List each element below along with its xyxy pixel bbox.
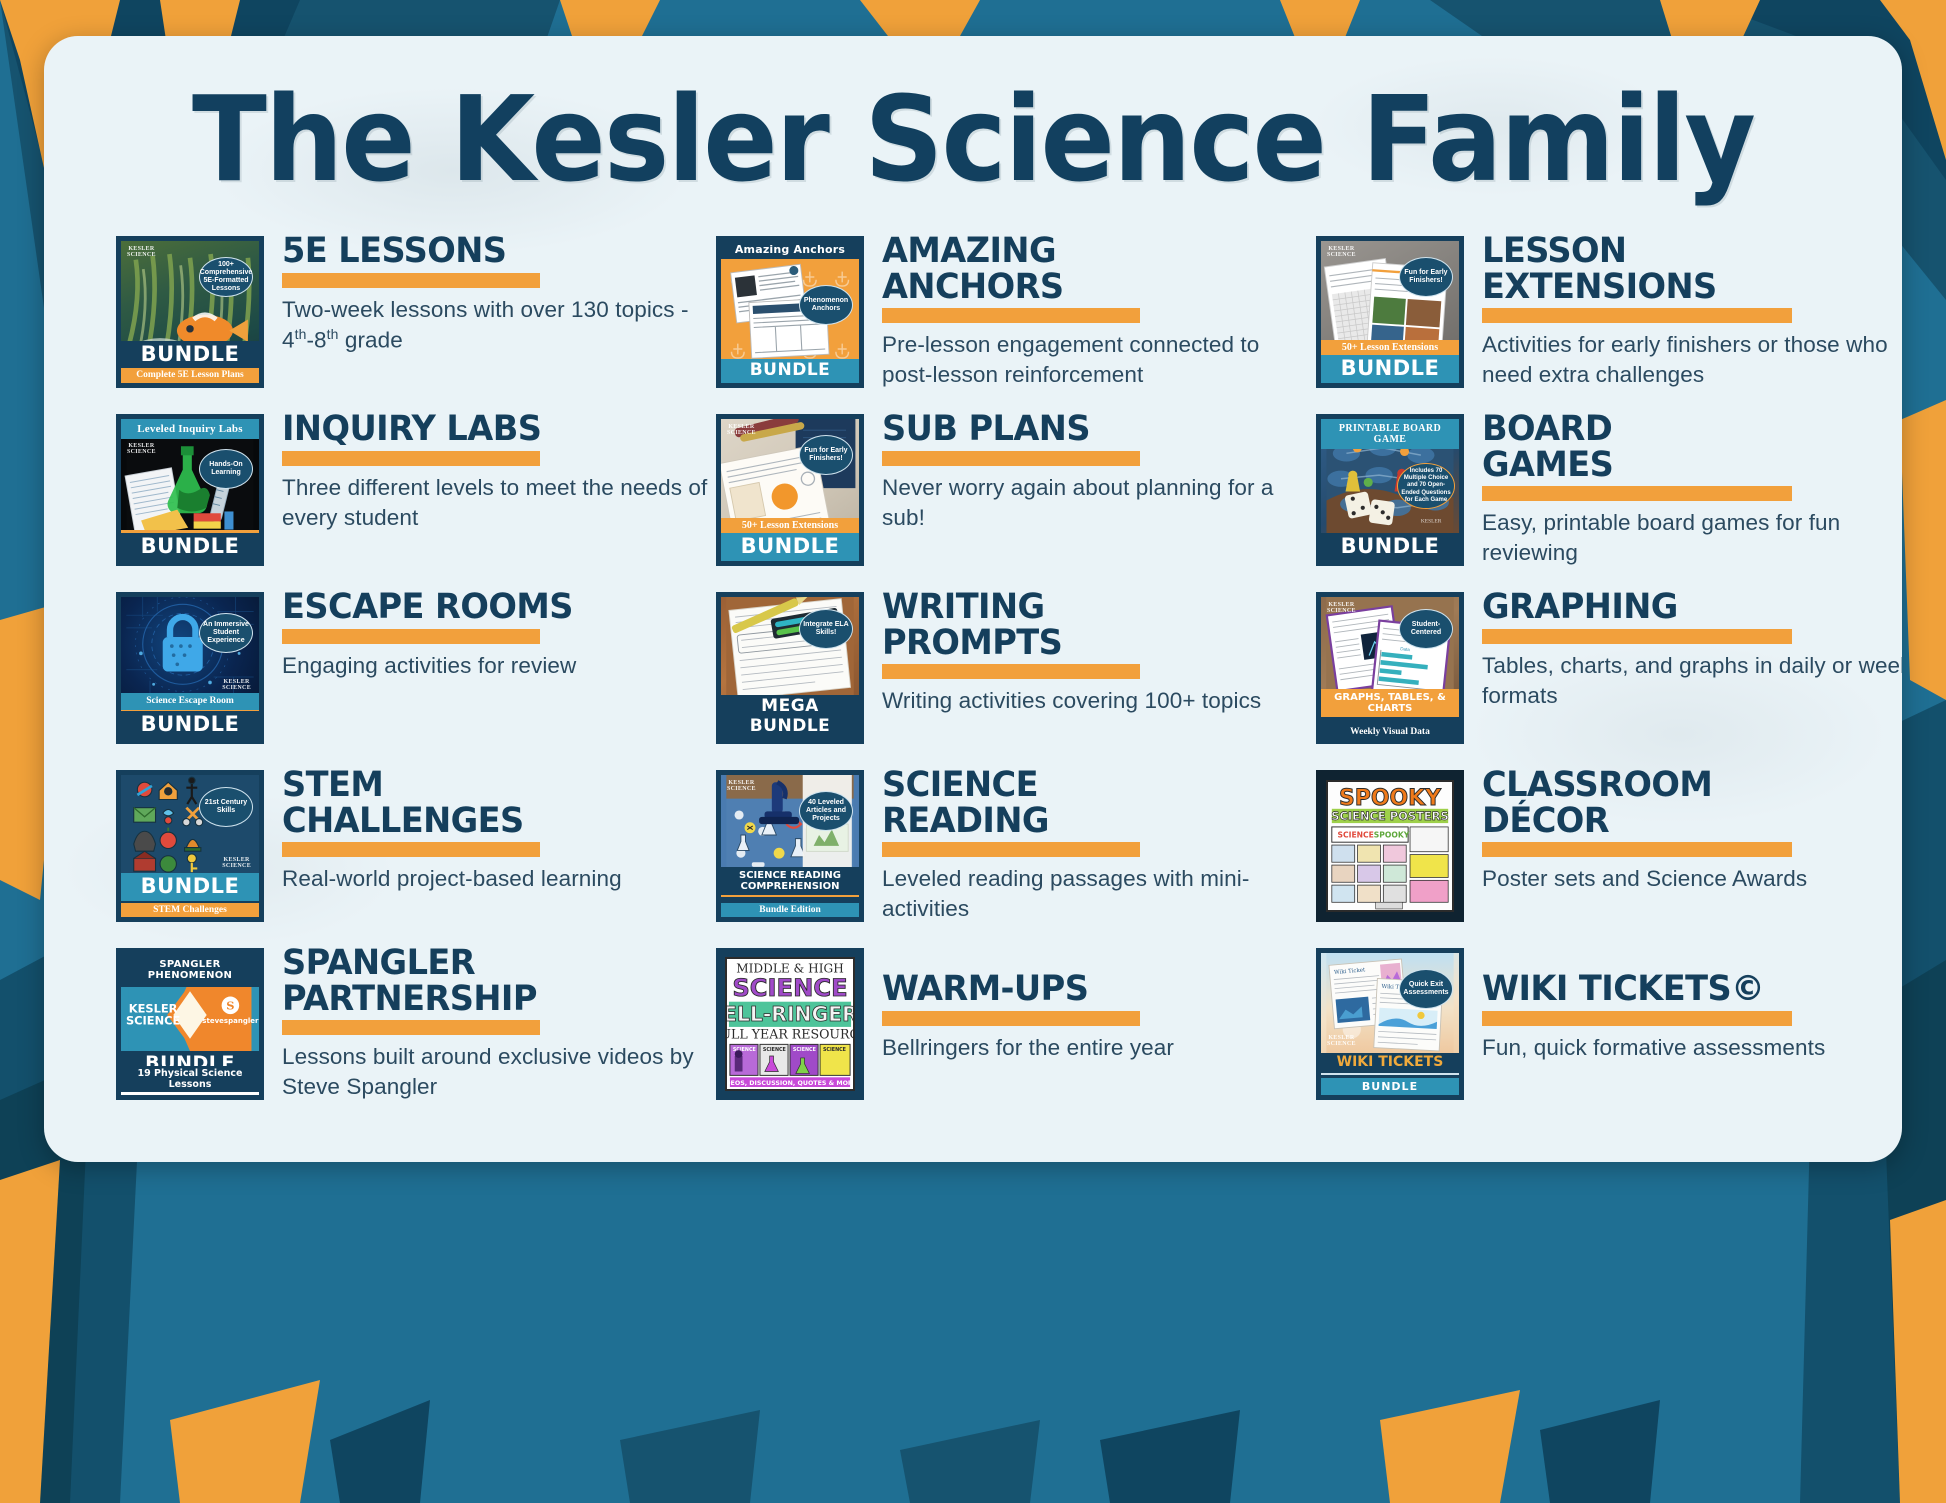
sup-th-1: th: [295, 326, 307, 342]
product-text: WIKI TICKETS© Fun, quick formative asses…: [1464, 944, 1902, 1063]
svg-text:VIDEOS, DISCUSSION, QUOTES & M: VIDEOS, DISCUSSION, QUOTES & MORE!: [727, 1080, 853, 1087]
product-text: SUB PLANS Never worry again about planni…: [864, 410, 1316, 533]
thumbnail-wiki-tickets: Wiki Ticket Wiki Ticket: [1316, 948, 1464, 1100]
thumb-top-label: Leveled Inquiry Labs: [121, 419, 259, 439]
orange-rule: [1482, 308, 1792, 323]
product-text: LESSON EXTENSIONS Activities for early f…: [1464, 232, 1902, 390]
product-description: Bellringers for the entire year: [882, 1033, 1316, 1063]
bundle-label: BUNDLE: [121, 530, 259, 561]
product-name: SUB PLANS: [882, 412, 1299, 448]
bundle-label: BUNDLE: [121, 711, 259, 739]
thumbnail-spangler-partnership: KESLER SCIENCE S stevespangler SPANGLER …: [116, 948, 264, 1100]
product-item-inquiry-labs[interactable]: Leveled Inquiry Labs KESLERSCIENCE Hands…: [116, 410, 716, 588]
product-name: GRAPHING: [1482, 590, 1902, 626]
product-text: CLASSROOM DÉCOR Poster sets and Science …: [1464, 766, 1902, 894]
kesler-logo-icon: KESLERSCIENCE: [727, 424, 756, 436]
svg-text:BELL-RINGERS: BELL-RINGERS: [727, 1002, 853, 1026]
bundle-label: BUNDLE: [721, 359, 859, 383]
thumbnail-board-games: KESLER PRINTABLE BOARD GAME Includes 70 …: [1316, 414, 1464, 566]
orange-rule: [882, 451, 1140, 466]
product-item-wiki-tickets[interactable]: Wiki Ticket Wiki Ticket: [1316, 944, 1902, 1122]
badge-label: 100+ Comprehensive 5E-Formatted Lessons: [199, 257, 253, 297]
thumb-sub-label: 50+ Lesson Extensions: [721, 518, 859, 533]
thumb-sub-label: BUNDLE: [1321, 1078, 1459, 1095]
product-description: Fun, quick formative assessments: [1482, 1033, 1902, 1063]
product-item-board-games[interactable]: KESLER PRINTABLE BOARD GAME Includes 70 …: [1316, 410, 1902, 588]
svg-text:SCIENCE POSTERS: SCIENCE POSTERS: [1331, 809, 1448, 823]
bundle-label: BUNDLE: [121, 873, 259, 901]
product-item-stem-challenges[interactable]: 21st Century Skills KESLERSCIENCE BUNDLE…: [116, 766, 716, 944]
art-spangler-kesler-logos: KESLER SCIENCE S stevespangler: [121, 979, 259, 1051]
product-description: Activities for early finishers or those …: [1482, 330, 1902, 390]
orange-rule: [1482, 486, 1792, 501]
svg-text:Data: Data: [1400, 646, 1411, 652]
product-description: Tables, charts, and graphs in daily or w…: [1482, 651, 1902, 711]
thumbnail-inquiry-labs: Leveled Inquiry Labs KESLERSCIENCE Hands…: [116, 414, 264, 566]
kesler-logo-icon: KESLERSCIENCE: [222, 857, 251, 869]
product-text: BOARD GAMES Easy, printable board games …: [1464, 410, 1902, 568]
badge-label: 21st Century Skills: [199, 787, 253, 827]
badge-label: Includes 70 Multiple Choice and 70 Open-…: [1397, 463, 1455, 509]
product-name: STEM CHALLENGES: [282, 768, 699, 839]
thumbnail-science-reading: KESLERSCIENCE 40 Leveled Articles and Pr…: [716, 770, 864, 922]
badge-label: Integrate ELA Skills!: [799, 609, 853, 649]
product-description: Easy, printable board games for fun revi…: [1482, 508, 1902, 568]
art-spooky-science-posters: SPOOKY SCIENCE POSTERS SCIENCE SPOOKY: [1326, 780, 1454, 912]
product-description: Poster sets and Science Awards: [1482, 864, 1902, 894]
product-item-science-reading[interactable]: KESLERSCIENCE 40 Leveled Articles and Pr…: [716, 766, 1316, 944]
thumbnail-lesson-extensions: KESLERSCIENCE Fun for Early Finishers! 5…: [1316, 236, 1464, 388]
product-name: SCIENCE READING: [882, 768, 1299, 839]
product-item-sub-plans[interactable]: KESLERSCIENCE Fun for Early Finishers! 5…: [716, 410, 1316, 588]
orange-rule: [882, 842, 1140, 857]
thumb-top-label: SPANGLER PHENOMENON: [121, 953, 259, 987]
badge-label: Fun for Early Finishers!: [799, 435, 853, 475]
product-description: Writing activities covering 100+ topics: [882, 686, 1316, 716]
product-description: Lessons built around exclusive videos by…: [282, 1042, 716, 1102]
bundle-label: BUNDLE: [721, 533, 859, 561]
badge-label: Student-Centered: [1399, 609, 1453, 649]
badge-label: Quick Exit Assessments: [1399, 969, 1453, 1009]
orange-rule: [882, 1011, 1140, 1026]
product-name: AMAZING ANCHORS: [882, 234, 1299, 305]
badge-label: 40 Leveled Articles and Projects: [799, 791, 853, 831]
product-description: Pre-lesson engagement connected to post-…: [882, 330, 1316, 390]
bundle-label: BUNDLE: [1321, 533, 1459, 561]
product-name: 5E LESSONS: [282, 234, 699, 270]
product-item-escape-rooms[interactable]: KESLERSCIENCE An Immersive Student Exper…: [116, 588, 716, 766]
kesler-logo-icon: KESLERSCIENCE: [222, 679, 251, 691]
orange-rule: [282, 451, 540, 466]
thumbnail-graphing: Data KESLERSCIENCE Student-Centered: [1316, 592, 1464, 744]
product-text: SPANGLER PARTNERSHIP Lessons built aroun…: [264, 944, 716, 1102]
partnership-svg: KESLER SCIENCE S stevespangler: [121, 979, 259, 1051]
kesler-logo-icon: KESLERSCIENCE: [1327, 246, 1356, 258]
svg-text:SPOOKY: SPOOKY: [1374, 830, 1410, 839]
svg-text:SPOOKY: SPOOKY: [1339, 786, 1442, 811]
product-description: Real-world project-based learning: [282, 864, 716, 894]
product-name: WARM-UPS: [882, 946, 1299, 1008]
kesler-logo-icon: KESLERSCIENCE: [727, 780, 756, 792]
svg-text:SCIENCE: SCIENCE: [1338, 830, 1374, 839]
product-description: Never worry again about planning for a s…: [882, 473, 1316, 533]
bellringers-svg: MIDDLE & HIGH SCIENCE BELL-RINGERS FULL …: [727, 959, 853, 1089]
bundle-label: SCIENCE READING COMPREHENSION: [721, 867, 859, 897]
product-name: SPANGLER PARTNERSHIP: [282, 946, 699, 1017]
svg-text:S: S: [226, 999, 234, 1013]
product-description: Three different levels to meet the needs…: [282, 473, 716, 533]
svg-text:KESLER: KESLER: [1421, 518, 1442, 524]
product-description: Two-week lessons with over 130 topics - …: [282, 295, 716, 355]
orange-rule: [882, 664, 1140, 679]
badge-label: Hands-On Learning: [199, 449, 253, 489]
product-text: WARM-UPS Bellringers for the entire year: [864, 944, 1316, 1063]
product-text: WRITING PROMPTS Writing activities cover…: [864, 588, 1316, 716]
thumbnail-amazing-anchors: Amazing Anchors Phenomenon Anchors BUNDL…: [716, 236, 864, 388]
product-text: 5E LESSONS Two-week lessons with over 13…: [264, 232, 716, 355]
product-name: INQUIRY LABS: [282, 412, 699, 448]
bundle-label: MEGA BUNDLE: [721, 695, 859, 739]
kesler-logo-icon: KESLERSCIENCE: [1327, 602, 1356, 614]
product-name: WRITING PROMPTS: [882, 590, 1299, 661]
badge-label: An Immersive Student Experience: [199, 613, 253, 653]
poster-card: The Kesler Science Family: [44, 36, 1902, 1162]
product-item-writing-prompts[interactable]: Integrate ELA Skills! Science Writing Pr…: [716, 588, 1316, 766]
badge-label: Phenomenon Anchors: [799, 285, 853, 325]
orange-rule: [282, 842, 540, 857]
svg-text:SCIENCE: SCIENCE: [793, 1047, 816, 1053]
svg-text:SCIENCE: SCIENCE: [823, 1047, 846, 1053]
thumbnail-stem-challenges: 21st Century Skills KESLERSCIENCE BUNDLE…: [116, 770, 264, 922]
thumbnail-sub-plans: KESLERSCIENCE Fun for Early Finishers! 5…: [716, 414, 864, 566]
thumbnail-classroom-decor: SPOOKY SCIENCE POSTERS SCIENCE SPOOKY: [1316, 770, 1464, 922]
product-text: SCIENCE READING Leveled reading passages…: [864, 766, 1316, 924]
thumb-sub-label: STEM Challenges: [121, 903, 259, 917]
product-item-amazing-anchors[interactable]: Amazing Anchors Phenomenon Anchors BUNDL…: [716, 232, 1316, 410]
product-description: Leveled reading passages with mini-activ…: [882, 864, 1316, 924]
svg-text:SCIENCE: SCIENCE: [732, 974, 847, 1002]
badge-label: Fun for Early Finishers!: [1399, 257, 1453, 297]
product-text: ESCAPE ROOMS Engaging activities for rev…: [264, 588, 716, 681]
svg-text:stevespangler: stevespangler: [202, 1016, 259, 1025]
kesler-logo-icon: KESLERSCIENCE: [127, 246, 156, 258]
art-bell-ringers-cover: MIDDLE & HIGH SCIENCE BELL-RINGERS FULL …: [725, 957, 855, 1091]
product-description: Engaging activities for review: [282, 651, 716, 681]
sup-th-2: th: [327, 326, 339, 342]
product-item-spangler-partnership[interactable]: KESLER SCIENCE S stevespangler SPANGLER …: [116, 944, 716, 1122]
orange-rule: [1482, 629, 1792, 644]
product-grid: KESLERSCIENCE 100+ Comprehensive 5E-Form…: [44, 232, 1902, 1122]
product-text: GRAPHING Tables, charts, and graphs in d…: [1464, 588, 1902, 711]
product-text: STEM CHALLENGES Real-world project-based…: [264, 766, 716, 894]
product-name: CLASSROOM DÉCOR: [1482, 768, 1902, 839]
svg-text:SCIENCE: SCIENCE: [126, 1014, 180, 1028]
orange-rule: [1482, 842, 1792, 857]
thumb-top-label: Amazing Anchors: [721, 241, 859, 259]
bundle-label: BUNDLE: [121, 341, 259, 369]
thumb-sub-label: 50+ Lesson Extensions: [1321, 340, 1459, 355]
product-text: AMAZING ANCHORS Pre-lesson engagement co…: [864, 232, 1316, 390]
orange-rule: [282, 273, 540, 288]
thumb-sub-label: Complete 5E Lesson Plans: [121, 368, 259, 383]
bundle-label: WIKI TICKETS: [1321, 1053, 1459, 1075]
product-item-5e-lessons[interactable]: KESLERSCIENCE 100+ Comprehensive 5E-Form…: [116, 232, 716, 410]
thumb-sub-label: 19 Physical Science Lessons: [121, 1066, 259, 1095]
product-text: INQUIRY LABS Three different levels to m…: [264, 410, 716, 533]
thumbnail-5e-lessons: KESLERSCIENCE 100+ Comprehensive 5E-Form…: [116, 236, 264, 388]
bundle-label: BUNDLE: [1321, 355, 1459, 383]
product-item-graphing[interactable]: Data KESLERSCIENCE Student-Centered: [1316, 588, 1902, 766]
thumb-top-label: PRINTABLE BOARD GAME: [1321, 419, 1459, 449]
thumbnail-writing-prompts: Integrate ELA Skills! Science Writing Pr…: [716, 592, 864, 744]
page-title: The Kesler Science Family: [109, 36, 1837, 208]
product-name: LESSON EXTENSIONS: [1482, 234, 1902, 305]
orange-rule: [282, 629, 540, 644]
bundle-label: GRAPHS, TABLES, & CHARTS: [1321, 689, 1459, 717]
svg-text:SCIENCE: SCIENCE: [763, 1047, 786, 1053]
orange-rule: [882, 308, 1140, 323]
thumb-sub-label: Bundle Edition: [721, 903, 859, 917]
svg-text:FULL YEAR RESOURCE: FULL YEAR RESOURCE: [727, 1027, 853, 1042]
thumbnail-escape-rooms: KESLERSCIENCE An Immersive Student Exper…: [116, 592, 264, 744]
product-item-lesson-extensions[interactable]: KESLERSCIENCE Fun for Early Finishers! 5…: [1316, 232, 1902, 410]
orange-rule: [282, 1020, 540, 1035]
product-name: WIKI TICKETS©: [1482, 946, 1902, 1008]
product-name: BOARD GAMES: [1482, 412, 1902, 483]
kesler-logo-icon: KESLERSCIENCE: [1327, 1035, 1356, 1047]
product-item-warm-ups[interactable]: MIDDLE & HIGH SCIENCE BELL-RINGERS FULL …: [716, 944, 1316, 1122]
thumbnail-warm-ups: MIDDLE & HIGH SCIENCE BELL-RINGERS FULL …: [716, 948, 864, 1100]
thumb-sub-label: Weekly Visual Data: [1321, 725, 1459, 739]
product-item-classroom-decor[interactable]: SPOOKY SCIENCE POSTERS SCIENCE SPOOKY: [1316, 766, 1902, 944]
kesler-logo-icon: KESLERSCIENCE: [127, 443, 156, 455]
product-name: ESCAPE ROOMS: [282, 590, 699, 626]
spooky-posters-svg: SPOOKY SCIENCE POSTERS SCIENCE SPOOKY: [1328, 782, 1452, 910]
orange-rule: [1482, 1011, 1792, 1026]
